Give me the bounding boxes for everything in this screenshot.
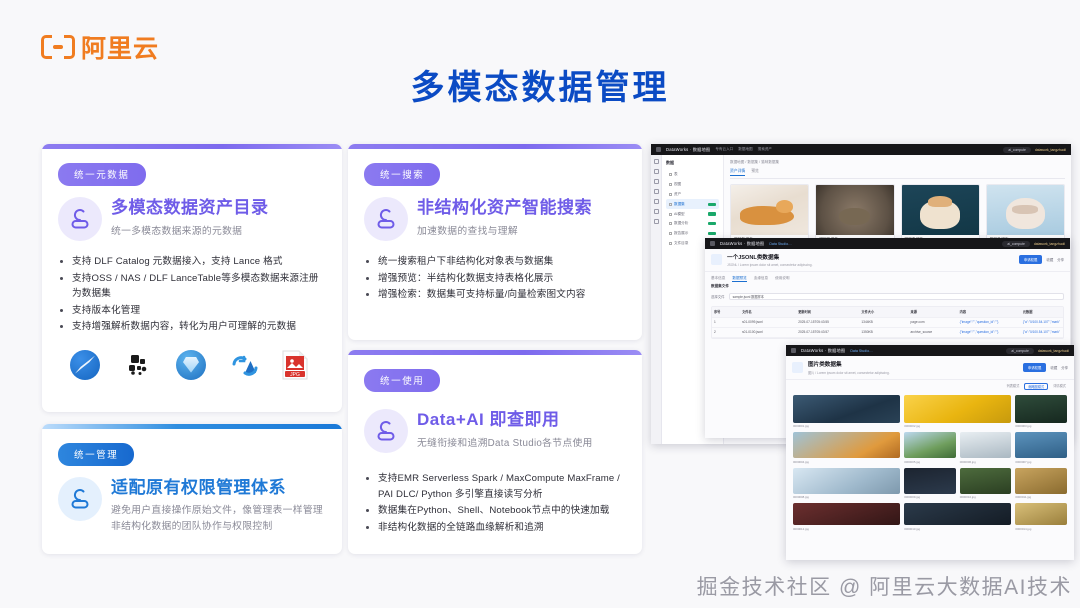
image-cell[interactable]: 0000010.jpg [960,468,1012,500]
user-label[interactable]: datawork_tangzhuoli [1034,242,1065,246]
list-item: 数据集在Python、Shell、Notebook节点中的快速加载 [364,503,626,519]
car-photo [904,468,956,494]
tree-item-label: 数据分析 [674,221,688,226]
image-cell[interactable]: 0000001.jpg [793,395,900,429]
car-photo [793,432,900,458]
cell-time: 2025-07-15T05:43:55 [796,318,859,328]
tree-item-3[interactable]: 数据集 [666,199,719,209]
image-cell[interactable]: 0000003.jpg [1015,395,1067,429]
rail-icon-star[interactable] [654,189,659,194]
image-cell[interactable]: 0000008.jpg [793,468,900,500]
status-badge [708,232,716,235]
view-detail[interactable]: 详情模式 [1053,383,1066,390]
image-cell[interactable]: 0000002.jpg [904,395,1011,429]
card-subtitle: 加速数据的查找与理解 [417,223,592,237]
list-item: 支持增强解析数据内容，转化为用户可理解的元数据 [58,319,326,335]
col-header: 元数据 [1021,307,1063,318]
tree-item-label: AI模型 [674,212,685,217]
cat-photo [731,185,808,235]
dataset-tabs[interactable]: 基本信息 数据预览 血缘信息 使用说明 [705,272,1070,284]
file-name: 0000008.jpg [793,495,900,499]
slide-root: 阿里云 多模态数据管理 统一元数据 多模态数据资产目录 统一多模态数据来源的元数… [0,0,1080,608]
card-badge: 统一使用 [364,369,440,392]
car-photo [1015,503,1067,525]
cell-content: {"image":"","question_id":""} [958,318,1021,328]
tab-preview[interactable]: 预览 [751,169,759,176]
file-name: 0000010.jpg [960,495,1012,499]
apply-permission-button[interactable]: 申请权限 [1019,255,1043,264]
list-item: 增强预览：半结构化数据支持表格化展示 [364,271,626,287]
tab-data-studio[interactable]: Data Studio… [850,349,872,353]
image-cell[interactable]: 0000012.jpg [793,503,900,531]
apply-permission-button[interactable]: 申请权限 [1023,363,1047,372]
view-mode-tabs[interactable]: 列表模式 缩略图模式 详情模式 [786,380,1074,390]
car-photo [1015,395,1067,423]
alibaba-cloud-logo-icon [41,35,75,59]
content-tabs[interactable]: 资产详情 预览 [730,169,1065,179]
cell-size: 1350KB [859,328,908,338]
view-thumbnail[interactable]: 缩略图模式 [1024,383,1048,390]
tree-item-label: 表 [674,172,678,177]
image-cell[interactable]: 0000014.jpg [1015,503,1067,531]
file-name: 0000009.jpg [904,495,956,499]
menu-icon[interactable] [791,348,796,353]
rail-icon-grid[interactable] [654,179,659,184]
cat-photo [816,185,893,235]
file-name: 0000007.jpg [1015,460,1067,464]
status-badge [708,222,716,225]
puzzle-cluster-icon [123,350,153,380]
cell-file: s01-0099.jsonl [740,318,796,328]
card-badge: 统一管理 [58,443,134,466]
env-pill[interactable]: ai_compute [1006,348,1034,354]
col-header: 更新时间 [796,307,859,318]
app-name: DataWorks · 数据地图 [801,348,845,354]
file-name: 0000005.jpg [904,460,956,464]
dataset-subtitle: 图片 / Lorem ipsum dolor sit amet, consect… [808,370,890,375]
list-item: 支持EMR Serverless Spark / MaxCompute MaxF… [364,471,626,502]
col-header: 文件名 [740,307,796,318]
icon-rail[interactable] [651,155,662,444]
search-box[interactable]: 搜索资产 [758,147,772,152]
tab-0[interactable]: 专有云入口 [715,147,733,152]
card-metadata: 统一元数据 多模态数据资产目录 统一多模态数据来源的元数据 支持 DLF Cat… [42,144,342,412]
menu-icon[interactable] [656,147,661,152]
dataset-subtitle: JSONL / Lorem ipsum dolor sit amet, cons… [727,263,812,267]
col-header: 内容 [958,307,1021,318]
list-item: 支持版本化管理 [58,303,326,319]
card-subtitle: 无缝衔接和追溯Data Studio各节点使用 [417,435,593,449]
card-subtitle: 统一多模态数据来源的元数据 [111,223,269,237]
card-title: 多模态数据资产目录 [111,198,269,218]
dataset-icon [711,254,722,265]
dataset-header: 图片类数据集 图片 / Lorem ipsum dolor sit amet, … [786,356,1074,380]
env-pill[interactable]: ai_compute [1003,147,1031,153]
cell-source: archive_source [909,328,958,338]
app-name: DataWorks · 数据地图 [720,241,764,247]
tree-item-label: 资产 [674,192,681,197]
tab-detail[interactable]: 资产详情 [730,169,745,176]
view-list[interactable]: 列表模式 [1007,383,1020,390]
dataset-header: 一个JSONL类数据集 JSONL / Lorem ipsum dolor si… [705,249,1070,272]
tree-item-4[interactable]: AI模型 [666,209,719,219]
card-subtitle: 避免用户直接操作原始文件，像管理表一样管理非结构化数据的团队协作与权限控制 [111,503,326,535]
file-name: 0000006.jpg [960,460,1012,464]
image-cell[interactable]: 0000006.jpg [960,432,1012,464]
tree-item-5[interactable]: 数据分析 [666,219,719,229]
filter-value: sample.jsonl 数据样本 [733,294,764,299]
card-search: 统一搜索 非结构化资产智能搜索 加速数据的查找与理解 统一搜索租户下非结构化对象… [348,144,642,340]
rail-icon-search[interactable] [654,169,659,174]
cell-content: {"image":"","question_id":""} [958,328,1021,338]
watermark: 掘金技术社区 @ 阿里云大数据AI技术 [697,571,1072,601]
app-titlebar: DataWorks · 数据地图 Data Studio… ai_compute… [705,238,1070,249]
car-photo [904,503,1011,525]
app-titlebar: DataWorks · 数据地图 Data Studio… ai_compute… [786,345,1074,356]
gem-icon [176,350,206,380]
list-item: 支持OSS / NAS / DLF LanceTable等多模态数据来源注册为数… [58,271,326,302]
card-title: 非结构化资产智能搜索 [417,198,592,218]
compass-icon [70,350,100,380]
tree-item-label: 文件目录 [674,241,688,246]
tab-basic-info[interactable]: 基本信息 [711,276,725,282]
card-title: 适配原有权限管理体系 [111,478,326,498]
list-item: 增强检索：数据集可支持标量/向量检索图文内容 [364,287,626,303]
filter-select[interactable]: sample.jsonl 数据样本 [729,293,1064,300]
status-badge [708,212,716,215]
section-label: 数据集文件 [705,284,1070,291]
table-header-row: 序号 文件名 更新时间 文件大小 来源 内容 元数据 [712,307,1063,318]
tree-item-label: 视图 [674,182,681,187]
car-photo [960,432,1012,458]
list-item: 非结构化数据的全链路血缘解析和追溯 [364,520,626,536]
mountain-sync-icon [229,350,259,380]
cell-meta: {"a":"0/100.54.107","mark" [1021,318,1063,328]
card-permission: 统一管理 适配原有权限管理体系 避免用户直接操作原始文件，像管理表一样管理非结构… [42,424,342,554]
cell-file: s01-0100.jsonl [740,328,796,338]
favorite-button[interactable]: 收藏 [1050,365,1057,370]
jpg-file-icon: JPG [282,350,308,380]
car-photo [793,468,900,494]
filter-label: 选择文件 [711,294,725,299]
app-titlebar: DataWorks · 数据地图 专有云入口 数据地图 搜索资产 ai_comp… [651,144,1071,155]
rail-icon-clock[interactable] [654,209,659,214]
image-cell[interactable]: 0000011.jpg [1015,468,1067,500]
car-photo [1015,432,1067,458]
file-name: 0000012.jpg [793,527,900,531]
col-header: 来源 [909,307,958,318]
card-badge: 统一搜索 [364,163,440,186]
image-cell[interactable]: 0000009.jpg [904,468,956,500]
car-photo [1015,468,1067,494]
file-name: 0000001.jpg [793,424,900,428]
share-button[interactable]: 分享 [1057,257,1064,262]
list-item: 统一搜索租户下非结构化对象表与数据集 [364,254,626,270]
env-pill[interactable]: ai_compute [1002,241,1030,247]
favorite-button[interactable]: 收藏 [1046,257,1053,262]
image-masonry-grid: 0000001.jpg 0000002.jpg 0000003.jpg 0000… [786,390,1074,536]
card-bullet-list: 支持EMR Serverless Spark / MaxCompute MaxF… [364,471,626,535]
tab-data-studio[interactable]: Data Studio… [769,242,791,246]
car-photo [793,395,900,423]
cell-index: 2 [712,328,740,338]
screenshot-image-dataset[interactable]: DataWorks · 数据地图 Data Studio… ai_compute… [786,345,1074,560]
tree-item-2[interactable]: 资产 [666,190,719,200]
card-bullet-list: 统一搜索租户下非结构化对象表与数据集 增强预览：半结构化数据支持表格化展示 增强… [364,254,626,303]
cell-source: page.com [909,318,958,328]
list-item: 支持 DLF Catalog 元数据接入，支持 Lance 格式 [58,254,326,270]
image-cell[interactable]: 0000004.jpg [793,432,900,464]
tree-item-label: 数据集 [674,202,685,207]
card-title: Data+AI 即查即用 [417,410,593,430]
rail-icon-doc[interactable] [654,199,659,204]
person-icon [364,409,408,453]
cell-index: 1 [712,318,740,328]
dataset-icon [792,362,803,373]
person-icon [364,197,408,241]
user-label[interactable]: datawork_tangzhuoli [1035,148,1066,152]
tree-item-label: 报告展示 [674,231,688,236]
col-header: 序号 [712,307,740,318]
breadcrumb: 数据地图 / 数据集 / 猫咪数据集 [730,160,1065,165]
cell-meta: {"a":"0/100.54.107","mark" [1021,328,1063,338]
car-photo [793,503,900,525]
card-badge: 统一元数据 [58,163,146,186]
rail-icon-home[interactable] [654,159,659,164]
file-name: 0000002.jpg [904,424,1011,428]
image-cell[interactable]: 0000005.jpg [904,432,956,464]
cat-photo [987,185,1064,235]
card-bullet-list: 支持 DLF Catalog 元数据接入，支持 Lance 格式 支持OSS /… [58,254,326,335]
table-row: 1 s01-0099.jsonl 2025-07-15T05:43:55 134… [712,318,1063,328]
file-name: 0000011.jpg [1015,495,1067,499]
card-usage: 统一使用 Data+AI 即查即用 无缝衔接和追溯Data Studio各节点使… [348,350,642,554]
tree-item-6[interactable]: 报告展示 [666,229,719,239]
file-name: 0000004.jpg [793,460,900,464]
svg-text:JPG: JPG [290,372,300,378]
app-name: DataWorks · 数据地图 [666,147,710,153]
share-button[interactable]: 分享 [1061,365,1068,370]
file-name: 0000013.jpg [904,527,1011,531]
menu-icon[interactable] [710,241,715,246]
page-title: 多模态数据管理 [0,60,1080,109]
cell-time: 2025-07-15T05:43:57 [796,328,859,338]
cell-size: 1344KB [859,318,908,328]
dataset-title: 图片类数据集 [808,360,890,368]
file-filter-row[interactable]: 选择文件 sample.jsonl 数据样本 [705,291,1070,302]
rail-icon-gear[interactable] [654,219,659,224]
tree-item-1[interactable]: 视图 [666,180,719,190]
table-row: 2 s01-0100.jsonl 2025-07-15T05:43:57 135… [712,328,1063,338]
tech-icon-strip: JPG [58,336,326,382]
status-badge [708,203,716,206]
car-photo [904,432,956,458]
preview-table: 序号 文件名 更新时间 文件大小 来源 内容 元数据 1 s01-0099.js… [711,306,1064,340]
tab-data-preview[interactable]: 数据预览 [732,276,746,282]
file-name: 0000003.jpg [1015,424,1067,428]
user-label[interactable]: datawork_tangzhuoli [1038,349,1069,353]
tab-usage[interactable]: 使用说明 [775,276,789,282]
person-icon [58,197,102,241]
cat-photo [902,185,979,235]
col-header: 文件大小 [859,307,908,318]
tab-1[interactable]: 数据地图 [738,147,752,152]
dataset-title: 一个JSONL类数据集 [727,253,812,261]
car-photo [904,395,1011,423]
image-cell[interactable]: 0000013.jpg [904,503,1011,531]
tab-lineage[interactable]: 血缘信息 [754,276,768,282]
file-name: 0000014.jpg [1015,527,1067,531]
tree-item-0[interactable]: 表 [666,170,719,180]
tree-header: 数据 [666,160,719,166]
car-photo [960,468,1012,494]
person-icon [58,477,102,521]
image-cell[interactable]: 0000007.jpg [1015,432,1067,464]
